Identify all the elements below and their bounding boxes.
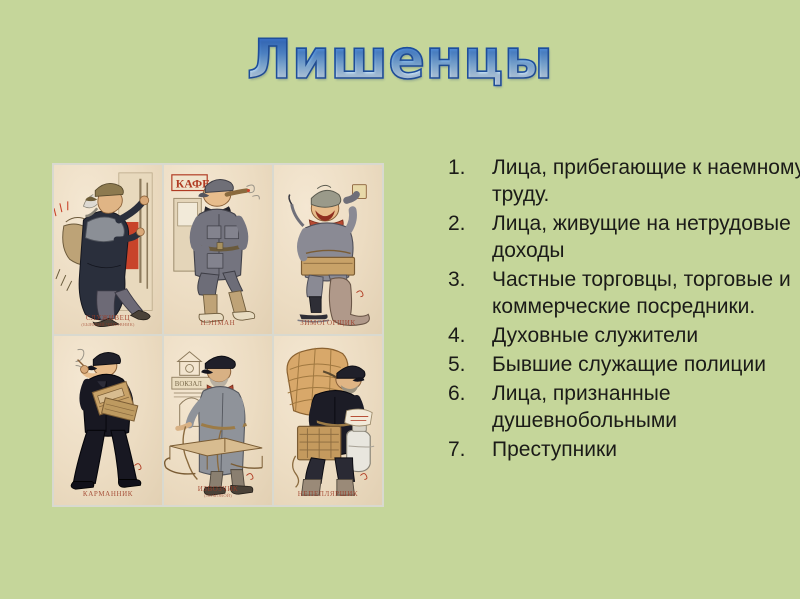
illustration-izvozchik: ВОКЗАЛ xyxy=(164,336,272,505)
card-caption: Служивец (бывший чиновник) xyxy=(54,314,162,327)
postcard-mesochnik[interactable]: Непепляршик xyxy=(274,336,382,505)
illustration-sluzhivets xyxy=(54,165,162,334)
card-caption: Нэпман xyxy=(164,319,272,327)
page-title: Лишенцы xyxy=(247,33,553,87)
list-item: 4. Духовные служители xyxy=(448,322,800,349)
list-item-text: Частные торговцы, торговые и коммерчески… xyxy=(492,266,800,320)
card-caption: Карманник xyxy=(54,490,162,498)
list-item-text: Преступники xyxy=(492,436,800,463)
illustration-mesochnik xyxy=(274,336,382,505)
list-item-text: Бывшие служащие полиции xyxy=(492,351,800,378)
list-item-number: 2. xyxy=(448,210,492,237)
list-item-number: 5. xyxy=(448,351,492,378)
list-item: 3. Частные торговцы, торговые и коммерче… xyxy=(448,266,800,320)
postcard-izvozchik[interactable]: ВОКЗАЛ xyxy=(164,336,272,505)
illustration-zimogorshchik xyxy=(274,165,382,334)
list-item-text: Духовные служители xyxy=(492,322,800,349)
list-item: 1. Лица, прибегающие к наемному труду. xyxy=(448,154,800,208)
card-subcaption: (бывший чиновник) xyxy=(54,322,162,327)
postcard-karmannik[interactable]: Карманник xyxy=(54,336,162,505)
list-item-number: 4. xyxy=(448,322,492,349)
list-item-text: Лица, прибегающие к наемному труду. xyxy=(492,154,800,208)
card-caption: Зимогорщик xyxy=(274,319,382,327)
list-item-text: Лица, признанные душевнобольными xyxy=(492,380,800,434)
list-item-number: 1. xyxy=(448,154,492,181)
card-caption: Непепляршик xyxy=(274,490,382,498)
list-item-text: Лица, живущие на нетрудовые доходы xyxy=(492,210,800,264)
list-item: 6. Лица, признанные душевнобольными xyxy=(448,380,800,434)
list-item-number: 6. xyxy=(448,380,492,407)
sign-text-vokzal: ВОКЗАЛ xyxy=(175,381,202,388)
list-item: 7. Преступники xyxy=(448,436,800,463)
card-subcaption: (ломовой) xyxy=(164,493,272,498)
postcard-sluzhivets[interactable]: Служивец (бывший чиновник) xyxy=(54,165,162,334)
postcard-nepman[interactable]: КАФЕ xyxy=(164,165,272,334)
list-item: 5. Бывшие служащие полиции xyxy=(448,351,800,378)
illustration-karmannik xyxy=(54,336,162,505)
title-container: Лишенцы xyxy=(0,33,800,87)
deprived-categories-list: 1. Лица, прибегающие к наемному труду. 2… xyxy=(408,154,800,465)
list-item: 2. Лица, живущие на нетрудовые доходы xyxy=(448,210,800,264)
postcard-zimogorshchik[interactable]: Зимогорщик xyxy=(274,165,382,334)
list-item-number: 7. xyxy=(448,436,492,463)
postcard-gallery: Служивец (бывший чиновник) КАФЕ xyxy=(52,163,384,507)
list-item-number: 3. xyxy=(448,266,492,293)
card-caption: Извозчик (ломовой) xyxy=(164,485,272,498)
illustration-nepman: КАФЕ xyxy=(164,165,272,334)
slide-root: Лишенцы xyxy=(0,0,800,599)
